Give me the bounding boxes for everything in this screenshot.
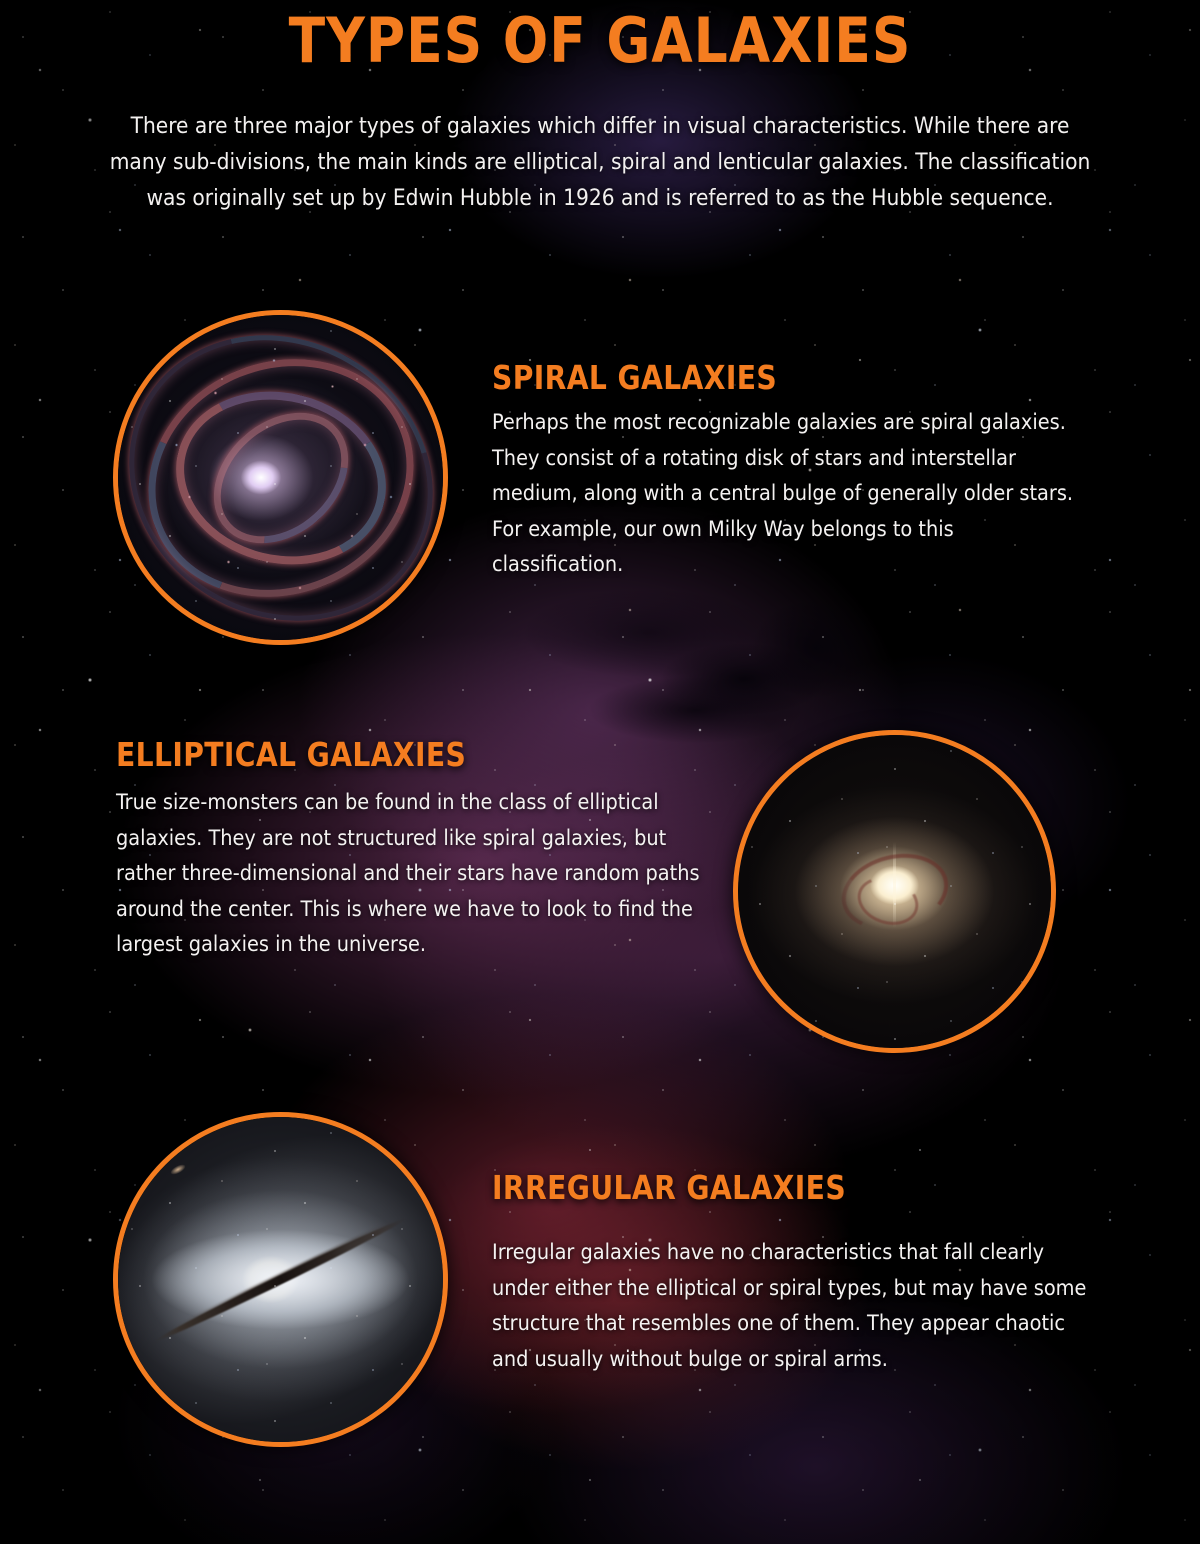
irregular-galaxy-image [113,1112,448,1447]
section-body-irregular: Irregular galaxies have no characteristi… [492,1235,1088,1377]
section-heading-spiral: SPIRAL GALAXIES [492,358,777,397]
irregular-field-stars [118,1117,443,1442]
elliptical-galaxy-image [733,730,1056,1053]
page-title: TYPES OF GALAXIES [24,8,1176,73]
spiral-galaxy-image [113,310,448,645]
spiral-field-stars [118,315,443,640]
section-body-elliptical: True size-monsters can be found in the c… [116,785,716,963]
spiral-galaxy-disc [118,315,443,640]
infographic-content: TYPES OF GALAXIES There are three major … [0,0,1200,1544]
section-heading-elliptical: ELLIPTICAL GALAXIES [116,735,466,774]
section-heading-irregular: IRREGULAR GALAXIES [492,1168,846,1207]
elliptical-galaxy-disc [738,735,1051,1048]
elliptical-field-stars [738,735,1051,1048]
irregular-galaxy-disc [118,1117,443,1442]
intro-paragraph: There are three major types of galaxies … [100,108,1100,216]
section-body-spiral: Perhaps the most recognizable galaxies a… [492,405,1088,583]
